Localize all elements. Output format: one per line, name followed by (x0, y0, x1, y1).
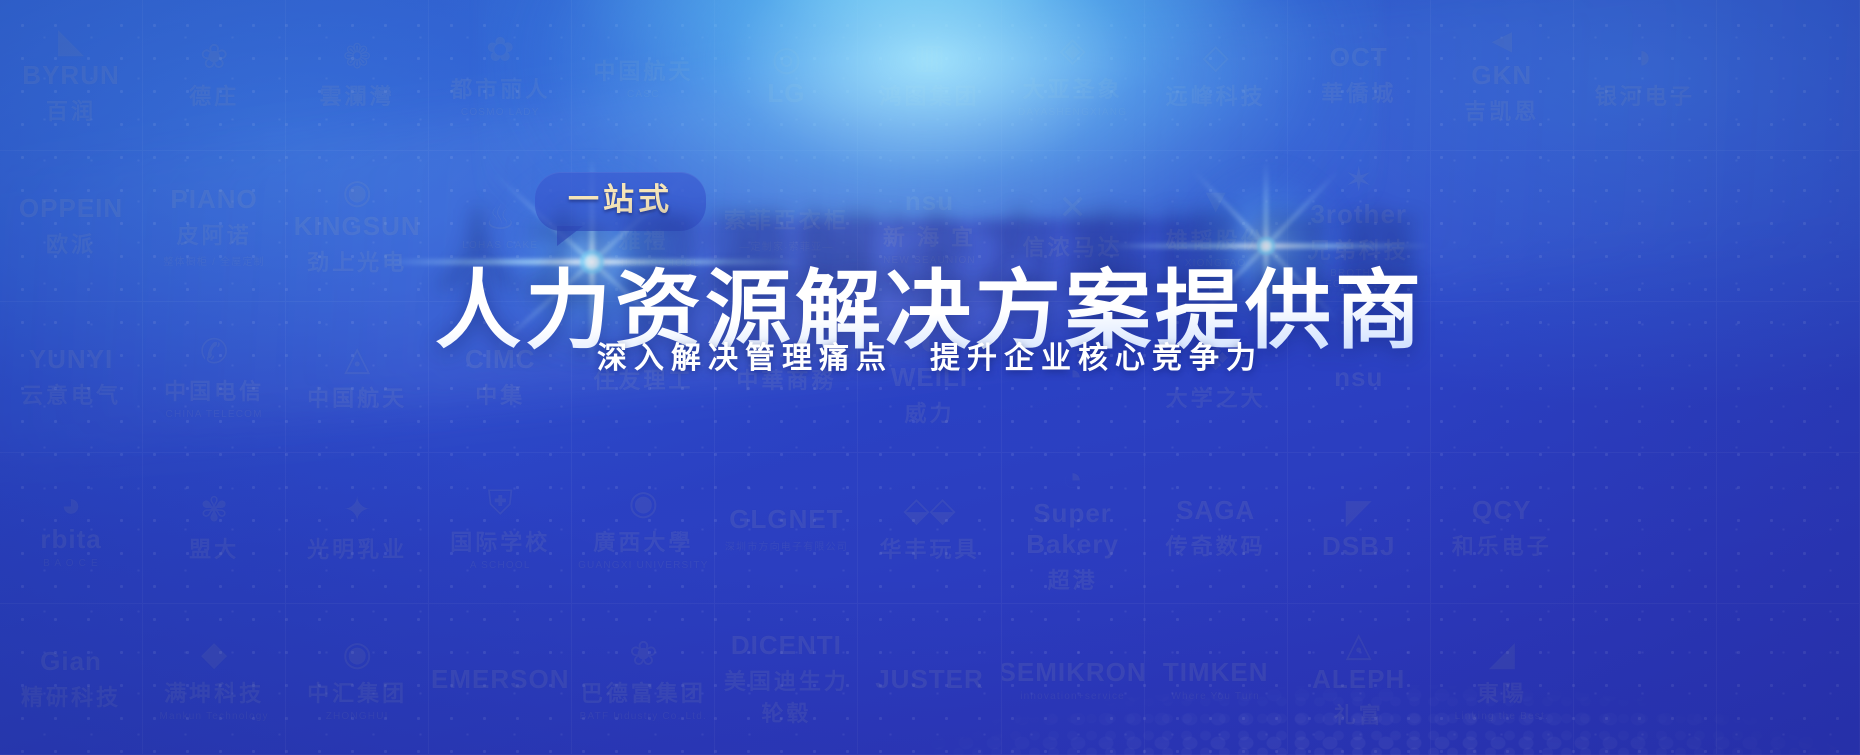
logo-name-cn: 盟大 (189, 532, 239, 564)
logo-cell: ▼雄韬股份XIONGTAO (1145, 151, 1288, 302)
logo-name-en: GKN (1471, 60, 1532, 91)
logo-tagline: COSMO LADY (461, 107, 540, 118)
logo-cell: ❀德庄 (143, 0, 286, 151)
logo-mark-icon: ▥ (913, 40, 945, 74)
logo-cell: ❖大学之大 (1145, 302, 1288, 453)
logo-cell: ◆满坤科技Mankun Technology (143, 604, 286, 755)
logo-name-cn: 華僑城 (1321, 76, 1396, 108)
logo-name-cn: 和乐电子 (1452, 529, 1552, 561)
logo-cell (1574, 604, 1717, 755)
logo-name-en: DICENTI (731, 630, 842, 661)
logo-mark-icon: ❁ (343, 40, 372, 74)
logo-mark-icon: ♨ (485, 201, 515, 235)
logo-name-en: EMERSON (431, 664, 569, 695)
one-stop-badge[interactable]: 一站式 (535, 172, 706, 231)
logo-name-en: QCY (1472, 495, 1531, 526)
logo-name-cn: 信浓马达 (1023, 230, 1123, 262)
logo-cell: TIMKENWhere You Turn (1145, 604, 1288, 755)
logo-cell: GLGNET深圳市方向电子有限公司 (715, 453, 858, 604)
logo-mark-icon: ✶ (1344, 163, 1373, 197)
logo-mark-icon: ◔ (1062, 462, 1083, 496)
logo-name-cn: 吉凯恩 (1464, 94, 1539, 126)
logo-name-cn: 兄弟科技 (1309, 233, 1409, 265)
logo-name-en: PIANO (170, 184, 257, 215)
logo-name-en: WEILI (891, 362, 968, 393)
logo-tagline: BROTHER TECHNOLOGY (1288, 268, 1430, 290)
logo-mark-icon: ❀ (629, 637, 658, 671)
logo-mark-icon: ✕ (1058, 191, 1087, 225)
logo-name-cn: 满坤科技 (164, 676, 264, 708)
logo-mark-icon: ◉ (342, 637, 372, 671)
logo-tagline: Mankun Technology (160, 711, 269, 722)
logo-tagline: 深圳市方向电子有限公司 (725, 538, 848, 553)
logo-tagline: Where You Turn (1171, 691, 1260, 702)
logo-cell (1431, 302, 1574, 453)
logo-cell: ◣BYRUN百润 (0, 0, 143, 151)
logo-mark-icon: ◣ (58, 24, 84, 58)
logo-cell: ✾盟大 (143, 453, 286, 604)
logo-cell: SEMIKRONinnovation+service (1002, 604, 1145, 755)
logo-mark-icon: ◎ (772, 42, 802, 76)
logo-cell: ◤DSBJ (1288, 453, 1431, 604)
logo-name-en: GLGNET (729, 504, 843, 535)
logo-mark-icon: ◆ (201, 637, 227, 671)
logo-name-cn: 欧派 (46, 227, 96, 259)
logo-cell: ✦光明乳业 (286, 453, 429, 604)
logo-name-cn: 超港 (1048, 563, 1098, 595)
logo-cell (1717, 0, 1860, 151)
logo-cell: YUNYI云意电气 (0, 302, 143, 453)
logo-name-en: CIMC (465, 344, 535, 375)
logo-cell: OPPEIN欧派 (0, 151, 143, 302)
logo-cell: 索菲亞衣柜—定制家·索菲亚— (715, 151, 858, 302)
logo-name-cn: 雄韬股份 (1166, 223, 1266, 255)
logo-mark-icon: ◐ (919, 326, 940, 360)
logo-name-cn: 都市丽人 (450, 72, 550, 104)
logo-cell: ◐WEILI威力 (858, 302, 1001, 453)
logo-name-cn: 大亚圣象 (1023, 72, 1123, 104)
logo-cell: ⛨国际学校A SCHOOL (429, 453, 572, 604)
logo-mark-icon: ❖ (1200, 342, 1230, 376)
logo-cell: ◉廣西大學GUANGXI UNIVERSITY (572, 453, 715, 604)
logo-name-cn: 中華商務 (736, 363, 836, 395)
logo-tagline: CHINA TELECOM (166, 409, 263, 420)
logo-name-en: OCT (1330, 42, 1388, 73)
logo-tagline: CASC (627, 89, 660, 100)
logo-name-en: KINGSUN (294, 211, 421, 242)
logo-cell: ◉中汇集团ZHONGHUI (286, 604, 429, 755)
logo-cell (1717, 151, 1860, 302)
partner-logo-wall: ◣BYRUN百润❀德庄❁雲瀾灣✿都市丽人COSMO LADY中国航天CASC◎L… (0, 0, 1860, 755)
logo-mark-icon: ▼ (1199, 184, 1233, 218)
logo-tagline: XIONGTAO (1185, 258, 1247, 269)
logo-cell: nsu新 海 宜NEW SEAUNION (858, 151, 1001, 302)
logo-cell: ◢東陽Linking the Best. (1431, 604, 1574, 755)
logo-tagline: ZHONGHUI (326, 711, 389, 722)
logo-tagline: BATF Industry Co.,Ltd. (580, 711, 707, 722)
logo-cell: ⬙⬙华丰玩具 (858, 453, 1001, 604)
logo-tagline: DAYASHENGXIANG (1018, 107, 1127, 118)
logo-tagline: Linking the Best. (1455, 711, 1549, 722)
logo-tagline: B A O C E (43, 558, 99, 569)
logo-mark-icon: ◄ (1485, 24, 1519, 58)
logo-cell (1431, 151, 1574, 302)
logo-mark-icon: ◢ (1489, 637, 1515, 671)
logo-mark-icon: ✦ (343, 493, 372, 527)
logo-cell (1717, 302, 1860, 453)
logo-name-cn: 美国迪生力轮毂 (715, 664, 857, 728)
logo-cell: ◬ALEPH礼富 (1288, 604, 1431, 755)
logo-mark-icon: ◇ (1203, 40, 1229, 74)
logo-cell: ◗银河电子 (1574, 0, 1717, 151)
logo-cell: JUSTER (858, 604, 1001, 755)
logo-cell: ▥鸿图集团 (858, 0, 1001, 151)
logo-name-cn: 中国电信 (164, 374, 264, 406)
logo-tagline: innovation+service (1020, 691, 1125, 702)
logo-name-cn: 银河电子 (1595, 79, 1695, 111)
logo-cell: ◄GKN吉凯恩 (1431, 0, 1574, 151)
logo-cell: nsu (1288, 302, 1431, 453)
logo-tagline: A SCHOOL (470, 560, 531, 571)
logo-name-cn: 巴德富集团 (581, 676, 706, 708)
hero-banner: ◣BYRUN百润❀德庄❁雲瀾灣✿都市丽人COSMO LADY中国航天CASC◎L… (0, 0, 1860, 755)
logo-cell: ❁雲瀾灣 (286, 0, 429, 151)
logo-cell (1717, 453, 1860, 604)
logo-name-cn: 中国航天 (307, 381, 407, 413)
logo-name-en: nsu (905, 186, 954, 217)
logo-name-en: YUNYI (29, 344, 113, 375)
logo-cell: 住友理工 (572, 302, 715, 453)
logo-tagline: —定制家·索菲亚— (739, 238, 833, 253)
logo-name-cn: 传奇数码 (1166, 529, 1266, 561)
logo-name-cn: 光明乳业 (307, 532, 407, 564)
logo-name-en: nsu (1334, 362, 1383, 393)
logo-cell: EMERSON (429, 604, 572, 755)
logo-name-cn: 礼富 (1334, 698, 1384, 730)
logo-name-en: SAGA (1176, 495, 1255, 526)
logo-name-cn: 威力 (904, 396, 954, 428)
logo-cell: ◇远峰科技 (1145, 0, 1288, 151)
logo-name-en: Super Bakery (1002, 498, 1144, 560)
logo-cell: ◬中国航天 (286, 302, 429, 453)
logo-cell: 中国航天CASC (572, 0, 715, 151)
logo-mark-icon: ◉ (342, 175, 372, 209)
logo-cell: OCT華僑城 (1288, 0, 1431, 151)
logo-tagline: 整体橱柜 / 全屋定制 (163, 253, 265, 268)
logo-tagline: YALI HIGH SCHOOL (587, 258, 700, 269)
logo-mark-icon: ◤ (1346, 495, 1372, 529)
logo-mark-icon: ✿ (486, 33, 515, 67)
logo-name-en: LG (767, 78, 805, 109)
logo-cell: ◔ (1002, 302, 1145, 453)
logo-name-cn: 大学之大 (1166, 381, 1266, 413)
logo-cell: Gian精研科技 (0, 604, 143, 755)
logo-tagline: NEW SEAUNION (883, 255, 976, 266)
badge-label: 一站式 (568, 181, 673, 220)
logo-name-cn: 劲上光电 (307, 245, 407, 277)
logo-name-cn: 索菲亞衣柜 (724, 203, 849, 235)
logo-cell: ◕rbitaB A O C E (0, 453, 143, 604)
logo-name-en: rbita (40, 524, 101, 555)
logo-cell: CIMC中集 (429, 302, 572, 453)
logo-mark-icon: ◕ (61, 488, 82, 522)
logo-mark-icon: ◈ (1059, 33, 1085, 67)
logo-name-cn: 住友理工 (593, 363, 693, 395)
logo-name-en: BYRUN (22, 60, 119, 91)
logo-name-en: SEMIKRON (1002, 657, 1145, 688)
logo-cell (1574, 302, 1717, 453)
logo-cell: QCY和乐电子 (1431, 453, 1574, 604)
logo-name-cn: 国际学校 (450, 525, 550, 557)
logo-cell: DICENTI美国迪生力轮毂 (715, 604, 858, 755)
logo-name-cn: 皮阿诺 (177, 218, 252, 250)
logo-cell (1574, 453, 1717, 604)
logo-cell: ✕信浓马达 (1002, 151, 1145, 302)
logo-cell (1717, 604, 1860, 755)
logo-cell (1574, 151, 1717, 302)
logo-cell: ◎LG (715, 0, 858, 151)
logo-cell: ✆中国电信CHINA TELECOM (143, 302, 286, 453)
logo-tagline: LOHAS CAKE (462, 240, 538, 251)
logo-mark-icon: ◗ (1635, 40, 1656, 74)
logo-name-cn: 雲瀾灣 (320, 79, 395, 111)
logo-cell: ✿都市丽人COSMO LADY (429, 0, 572, 151)
logo-name-cn: 中集 (475, 378, 525, 410)
badge-bubble: 一站式 (535, 172, 706, 231)
logo-name-cn: 远峰科技 (1166, 79, 1266, 111)
logo-tagline: GUANGXI UNIVERSITY (578, 560, 709, 571)
logo-name-en: JUSTER (875, 664, 984, 695)
logo-name-cn: 百润 (46, 94, 96, 126)
logo-name-cn: 华丰玩具 (879, 532, 979, 564)
logo-mark-icon: ◉ (629, 486, 659, 520)
logo-mark-icon: ◔ (1062, 359, 1083, 393)
logo-name-cn: 精研科技 (21, 680, 121, 712)
logo-mark-icon: ⛨ (488, 486, 514, 520)
logo-name-en: ALEPH (1312, 664, 1405, 695)
logo-name-cn: 德庄 (189, 79, 239, 111)
logo-cell: SAGA传奇数码 (1145, 453, 1288, 604)
logo-cell: PIANO皮阿诺整体橱柜 / 全屋定制 (143, 151, 286, 302)
logo-name-cn: 中国航天 (593, 54, 693, 86)
logo-cell: ❀巴德富集团BATF Industry Co.,Ltd. (572, 604, 715, 755)
logo-mark-icon: ✆ (200, 335, 229, 369)
badge-tail-icon (557, 226, 583, 246)
logo-name-cn: 云意电气 (21, 378, 121, 410)
logo-cell: ◔Super Bakery超港 (1002, 453, 1145, 604)
logo-name-en: OPPEIN (19, 193, 123, 224)
logo-cell: ✶3rother兄弟科技BROTHER TECHNOLOGY (1288, 151, 1431, 302)
logo-name-cn: 鸿图集团 (879, 79, 979, 111)
logo-name-en: 3rother (1310, 199, 1407, 230)
logo-name-en: Gian (40, 646, 102, 677)
logo-name-cn: 新 海 宜 (883, 220, 976, 252)
logo-mark-icon: ⬙⬙ (903, 493, 955, 527)
logo-name-cn: 東陽 (1477, 676, 1527, 708)
logo-name-en: DSBJ (1322, 531, 1395, 562)
logo-mark-icon: ✾ (200, 493, 229, 527)
logo-mark-icon: ◬ (1346, 628, 1372, 662)
logo-cell: ◈大亚圣象DAYASHENGXIANG (1002, 0, 1145, 151)
logo-mark-icon: ❀ (200, 40, 229, 74)
logo-name-cn: 中汇集团 (307, 676, 407, 708)
logo-cell: 中華商務 (715, 302, 858, 453)
logo-mark-icon: ◬ (344, 342, 370, 376)
logo-name-cn: 廣西大學 (593, 525, 693, 557)
logo-name-en: TIMKEN (1163, 657, 1269, 688)
logo-cell: ◉KINGSUN劲上光电 (286, 151, 429, 302)
